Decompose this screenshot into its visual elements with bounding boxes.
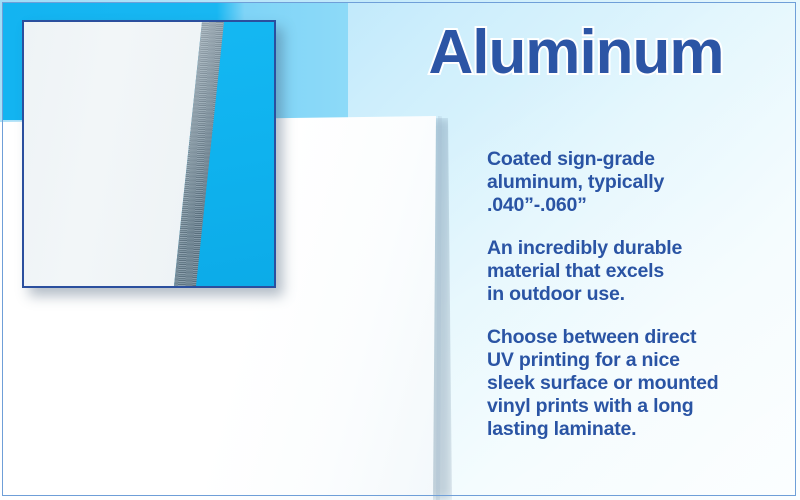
paragraph-print-options: Choose between direct UV printing for a … [487,326,787,441]
description-copy: Coated sign-grade aluminum, typically .0… [487,148,787,441]
paragraph-durability: An incredibly durable material that exce… [487,237,787,306]
page-title: Aluminum [376,22,776,84]
paragraph-material-spec: Coated sign-grade aluminum, typically .0… [487,148,787,217]
poster-frame: Aluminum Coated sign-grade aluminum, typ… [0,0,800,500]
aluminum-edge-photo [22,20,276,288]
